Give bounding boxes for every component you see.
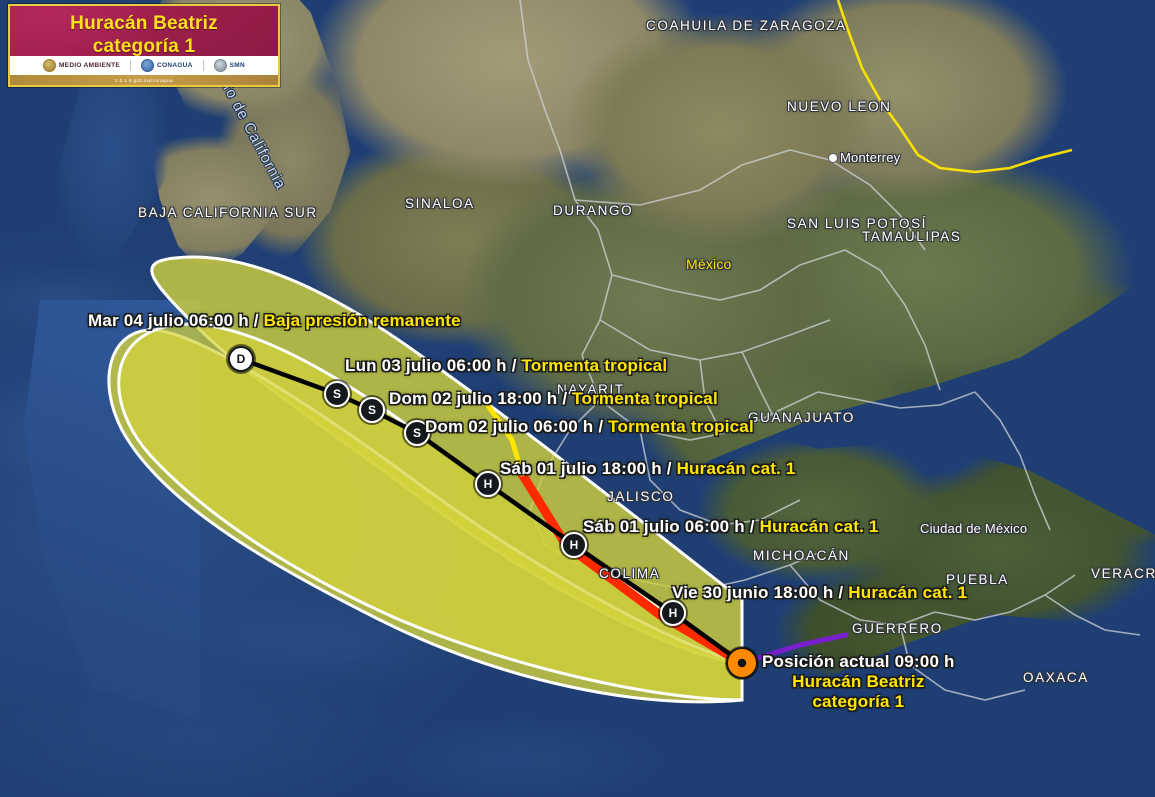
logo-label: SMN: [230, 62, 245, 69]
state-label-jalisco: JALISCO: [607, 489, 674, 504]
forecast-sep: /: [745, 517, 760, 536]
state-label-veracruz: VERACRUZ: [1091, 566, 1155, 581]
logo-medio-ambiente: MEDIO AMBIENTE: [43, 59, 120, 72]
city-label-monterrey: Monterrey: [840, 150, 900, 165]
state-label-sinaloa: SINALOA: [405, 196, 475, 211]
forecast-label-mar-04: Mar 04 julio 06:00 h / Baja presión rema…: [88, 311, 461, 331]
state-label-colima: COLIMA: [599, 566, 660, 581]
track-marker-hurricane-1[interactable]: H: [475, 471, 501, 497]
state-label-guerrero: GUERRERO: [852, 621, 943, 636]
forecast-category: Huracán cat. 1: [760, 517, 879, 536]
track-marker-storm-2[interactable]: S: [359, 397, 385, 423]
forecast-label-dom-02-18: Dom 02 julio 18:00 h / Tormenta tropical: [389, 389, 718, 409]
forecast-time: Lun 03 julio 06:00 h: [345, 356, 507, 375]
banner-logo-strip: MEDIO AMBIENTE CONAGUA SMN: [10, 56, 278, 75]
state-label-guanajuato: GUANAJUATO: [748, 410, 855, 425]
state-label-oaxaca: OAXACA: [1023, 670, 1089, 685]
forecast-sep: /: [662, 459, 677, 478]
city-dot-monterrey: [828, 153, 838, 163]
track-marker-storm-1[interactable]: S: [324, 381, 350, 407]
forecast-time: Mar 04 julio 06:00 h: [88, 311, 249, 330]
current-position-category: categoría 1: [762, 692, 955, 712]
forecast-time: Dom 02 julio 06:00 h: [425, 417, 593, 436]
state-label-durango: DURANGO: [553, 203, 633, 218]
divider: [203, 60, 204, 71]
current-position-name: Huracán Beatriz: [762, 672, 955, 692]
forecast-category: Tormenta tropical: [522, 356, 668, 375]
forecast-time: Dom 02 julio 18:00 h: [389, 389, 557, 408]
state-label-michoacan: MICHOACÁN: [753, 548, 850, 563]
forecast-time: Sáb 01 julio 06:00 h: [583, 517, 745, 536]
marker-symbol: S: [368, 403, 376, 417]
forecast-label-sab-01-18: Sáb 01 julio 18:00 h / Huracán cat. 1: [500, 459, 796, 479]
forecast-category: Baja presión remanente: [264, 311, 461, 330]
state-label-san-luis-potosi: SAN LUIS POTOSÍ: [787, 216, 927, 231]
forecast-category: Tormenta tropical: [608, 417, 754, 436]
banner-footer: 2 0 1 8 gob.mx/conagua: [10, 75, 278, 85]
current-position-time: Posición actual 09:00 h: [762, 652, 955, 672]
state-label-tamaulipas: TAMAULIPAS: [862, 229, 962, 244]
logo-conagua: CONAGUA: [141, 59, 193, 72]
marker-symbol: D: [237, 352, 246, 366]
forecast-category: Huracán cat. 1: [677, 459, 796, 478]
marker-symbol: S: [413, 426, 421, 440]
forecast-label-vie-30-18: Vie 30 junio 18:00 h / Huracán cat. 1: [672, 583, 967, 603]
logo-label: MEDIO AMBIENTE: [59, 62, 120, 69]
logo-label: CONAGUA: [157, 62, 193, 69]
banner-title: Huracán Beatriz categoría 1: [10, 6, 278, 58]
logo-smn: SMN: [214, 59, 245, 72]
state-label-coahuila: COAHUILA DE ZARAGOZA: [646, 18, 847, 33]
marker-symbol: H: [669, 606, 678, 620]
forecast-time: Sáb 01 julio 18:00 h: [500, 459, 662, 478]
forecast-category: Huracán cat. 1: [848, 583, 967, 602]
cloud-icon: [214, 59, 227, 72]
forecast-sep: /: [507, 356, 522, 375]
state-label-baja-california-sur: BAJA CALIFORNIA SUR: [138, 205, 318, 220]
forecast-sep: /: [593, 417, 608, 436]
forecast-time: Vie 30 junio 18:00 h: [672, 583, 833, 602]
marker-symbol: H: [570, 538, 579, 552]
forecast-label-lun-03: Lun 03 julio 06:00 h / Tormenta tropical: [345, 356, 667, 376]
country-label-mexico: México: [686, 256, 732, 272]
marker-symbol: H: [484, 477, 493, 491]
forecast-sep: /: [557, 389, 572, 408]
divider: [130, 60, 131, 71]
state-label-nuevo-leon: NUEVO LEON: [787, 99, 892, 114]
current-position-label: Posición actual 09:00 h Huracán Beatriz …: [762, 652, 955, 712]
water-drop-icon: [141, 59, 154, 72]
forecast-category: Tormenta tropical: [572, 389, 718, 408]
marker-symbol: S: [333, 387, 341, 401]
banner-title-line1: Huracán Beatriz: [10, 12, 278, 35]
track-marker-depression[interactable]: D: [228, 346, 254, 372]
track-marker-hurricane-3[interactable]: H: [660, 600, 686, 626]
current-position-marker[interactable]: [726, 647, 758, 679]
city-label-ciudad-de-mexico: Ciudad de México: [920, 521, 1027, 536]
forecast-sep: /: [833, 583, 848, 602]
banner-title-line2: categoría 1: [10, 35, 278, 58]
forecast-label-sab-01-06: Sáb 01 julio 06:00 h / Huracán cat. 1: [583, 517, 879, 537]
forecast-label-dom-02-06: Dom 02 julio 06:00 h / Tormenta tropical: [425, 417, 754, 437]
agency-banner: Huracán Beatriz categoría 1 MEDIO AMBIEN…: [8, 4, 280, 87]
forecast-sep: /: [249, 311, 264, 330]
hurricane-forecast-map: D S S S H H H COAHUILA DE ZARAGOZA NUEVO…: [0, 0, 1155, 797]
banner-footer-text: 2 0 1 8 gob.mx/conagua: [115, 78, 173, 83]
eagle-seal-icon: [43, 59, 56, 72]
